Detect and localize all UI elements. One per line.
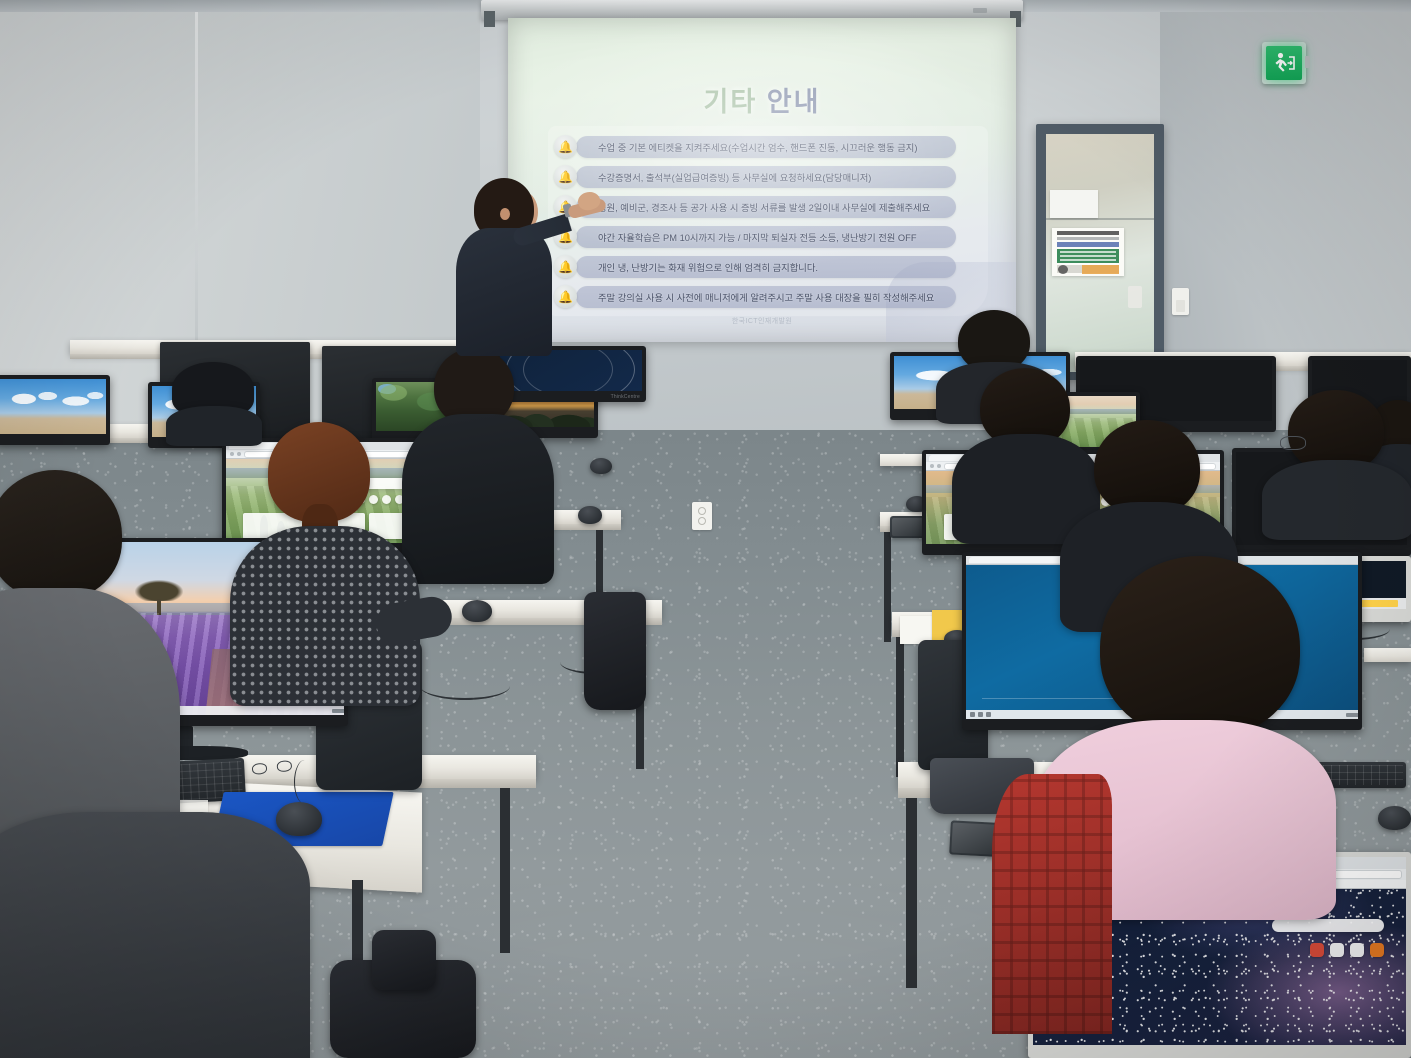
shortcut-tile[interactable] <box>1330 943 1344 957</box>
student-head <box>1100 556 1300 738</box>
mouse-cable <box>294 760 315 804</box>
desk-leg <box>896 637 904 777</box>
backpack-strap <box>372 930 436 990</box>
monitor-bezel <box>0 375 110 445</box>
desk-leg <box>884 532 891 642</box>
wallpaper-desert-sky <box>0 379 106 434</box>
monitor-brand-label: ThinkCentre <box>611 394 640 400</box>
safety-notice <box>1052 228 1124 276</box>
reload-icon[interactable] <box>937 464 941 468</box>
student <box>256 422 386 692</box>
bullet-text: 수업 중 기본 에티켓을 지켜주세요(수업시간 엄수, 핸드폰 진동, 시끄러운… <box>576 140 929 154</box>
list-item: 🔔 주말 강의실 사용 시 사전에 매니저에게 알려주시고 주말 사용 대장을 … <box>576 286 956 308</box>
student-glasses <box>1280 436 1306 450</box>
taskview-icon[interactable] <box>986 712 991 717</box>
student <box>172 362 254 432</box>
bullet-text: 수강증명서, 출석부(실업급여증빙) 등 사무실에 요청하세요(담당매니저) <box>576 170 883 184</box>
bell-icon: 🔔 <box>554 135 577 158</box>
mouse[interactable] <box>462 600 492 622</box>
student-torso <box>1262 460 1411 540</box>
notice-headline <box>1057 231 1119 235</box>
slide-title-part1: 기타 <box>704 87 758 117</box>
slide-bullet-list: 🔔 수업 중 기본 에티켓을 지켜주세요(수업시간 엄수, 핸드폰 진동, 시끄… <box>576 136 956 316</box>
notice-blue-band <box>1057 242 1119 247</box>
list-item: 🔔 수업 중 기본 에티켓을 지켜주세요(수업시간 엄수, 핸드폰 진동, 시끄… <box>576 136 956 158</box>
mouse[interactable] <box>1378 806 1411 830</box>
notice-green-band <box>1057 249 1119 263</box>
emergency-exit-sign <box>1262 42 1306 84</box>
desk-surface <box>1364 648 1411 662</box>
thinkcentre-arc <box>523 350 613 391</box>
bullet-text: 개인 냉, 난방기는 화재 위험으로 인해 엄격히 금지합니다. <box>576 260 830 274</box>
instructor-torso <box>456 228 552 356</box>
instructor-ear <box>500 208 510 220</box>
back-icon[interactable] <box>930 464 934 468</box>
cable <box>420 672 510 700</box>
backpack <box>584 592 646 710</box>
slide-title-part2: 안내 <box>767 87 821 117</box>
student <box>418 348 528 578</box>
housing-sticker-left <box>973 8 987 13</box>
desk-leg <box>500 788 510 953</box>
taskbar-clock[interactable] <box>1346 713 1358 717</box>
shortcut-tile[interactable] <box>1350 943 1364 957</box>
student-torso <box>402 414 554 584</box>
list-item: 🔔 병원, 예비군, 경조사 등 공가 사용 시 증빙 서류를 발생 2일이내 … <box>576 196 956 218</box>
list-item: 🔔 수강증명서, 출석부(실업급여증빙) 등 사무실에 요청하세요(담당매니저) <box>576 166 956 188</box>
list-item: 🔔 야간 자율학습은 PM 10시까지 가능 / 마지막 퇴실자 전등 소등, … <box>576 226 956 248</box>
student <box>0 812 310 1058</box>
notice-seal-icon <box>1058 265 1068 274</box>
notice-subline <box>1057 237 1119 240</box>
classroom-photo: 기타 안내 🔔 수업 중 기본 에티켓을 지켜주세요(수업시간 엄수, 핸드폰 … <box>0 0 1411 1058</box>
student <box>1000 556 1330 1056</box>
screen-roller-housing <box>481 0 1023 20</box>
mouse[interactable] <box>590 458 612 474</box>
housing-bracket-left <box>484 11 495 27</box>
student-torso <box>166 406 262 446</box>
bullet-text: 병원, 예비군, 경조사 등 공가 사용 시 증빙 서류를 발생 2일이내 사무… <box>576 200 942 214</box>
plaid-pattern <box>992 774 1112 1034</box>
duplex-power-outlet <box>692 502 712 530</box>
slide-title: 기타 안내 <box>508 80 1016 119</box>
start-icon[interactable] <box>970 712 975 717</box>
poster-notice <box>1050 190 1098 218</box>
wall-seam <box>195 0 198 380</box>
wall-light-switch[interactable] <box>1172 288 1189 315</box>
door-glass-divider <box>1046 218 1154 220</box>
student <box>970 368 1080 528</box>
list-item: 🔔 개인 냉, 난방기는 화재 위험으로 인해 엄격히 금지합니다. <box>576 256 956 278</box>
bullet-text: 주말 강의실 사용 시 사전에 매니저에게 알려주시고 주말 사용 대장을 필히… <box>576 290 946 304</box>
shortcut-tile[interactable] <box>1370 943 1384 957</box>
monitor <box>0 375 110 445</box>
desk-leg <box>906 798 917 988</box>
search-icon[interactable] <box>978 712 983 717</box>
mouse[interactable] <box>578 506 602 524</box>
notice-orange-callout <box>1082 265 1119 274</box>
instructor <box>452 178 602 356</box>
running-person-exit-icon <box>1266 46 1302 80</box>
bullet-text: 야간 자율학습은 PM 10시까지 가능 / 마지막 퇴실자 전등 소등, 냉난… <box>576 230 929 244</box>
exit-sign-mount <box>1305 56 1310 68</box>
wall-plate <box>1128 286 1142 308</box>
taskbar-clock[interactable] <box>332 709 344 713</box>
back-icon[interactable] <box>230 452 234 456</box>
reload-icon[interactable] <box>237 452 241 456</box>
student <box>1276 390 1394 510</box>
student-torso <box>0 812 310 1058</box>
monitor-screen <box>0 379 106 434</box>
student-head <box>0 470 122 600</box>
